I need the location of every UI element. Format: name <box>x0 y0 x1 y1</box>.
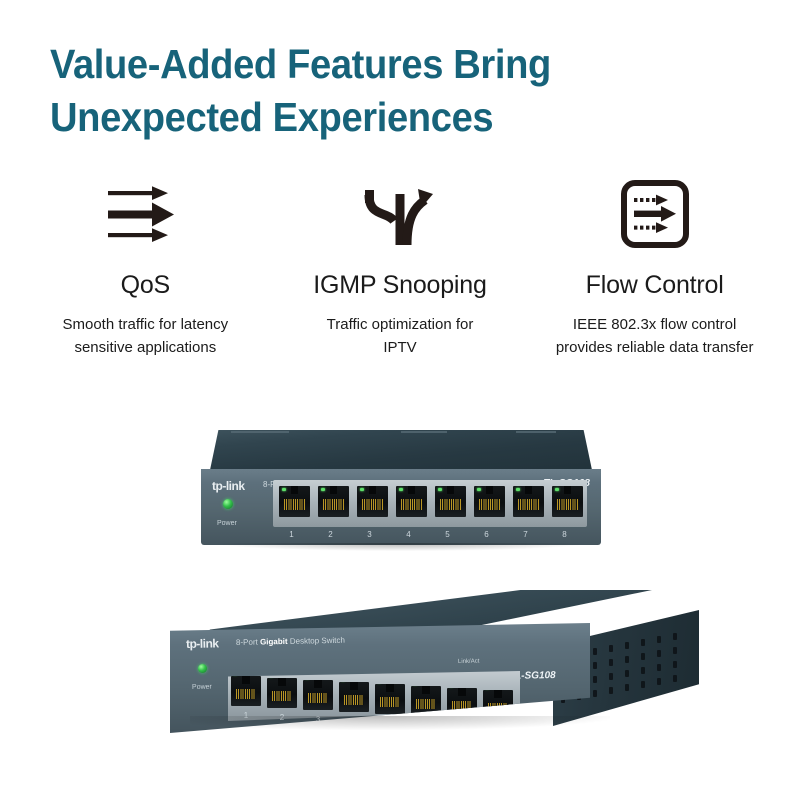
feature-title-flow-control: Flow Control <box>586 271 724 300</box>
product-image-front-view: tp-link 8-Port Gigabit Desktop Switch Li… <box>201 430 601 555</box>
rj45-port[interactable] <box>396 486 427 517</box>
feature-item-igmp-snooping: IGMP Snooping Traffic optimization for I… <box>273 175 528 360</box>
rj45-port[interactable] <box>231 676 261 706</box>
branching-arrow-icon <box>363 175 437 253</box>
power-led <box>223 499 233 509</box>
product-shadow <box>190 716 610 730</box>
feature-desc-flow-control: IEEE 802.3x flow control provides reliab… <box>530 313 780 360</box>
feature-desc-qos-line-2: sensitive applications <box>20 336 270 359</box>
tp-link-logo: tp-link <box>186 636 219 651</box>
rj45-port[interactable] <box>279 486 310 517</box>
feature-desc-igmp-line-2: IPTV <box>275 336 525 359</box>
chassis-top-seam <box>516 431 556 433</box>
rj45-port[interactable] <box>513 486 544 517</box>
feature-desc-igmp-line-1: Traffic optimization for <box>275 313 525 336</box>
rj45-port[interactable] <box>474 486 505 517</box>
feature-title-qos: QoS <box>121 271 170 300</box>
port-link-led <box>399 488 403 491</box>
product-shadow <box>217 543 585 551</box>
rj45-port[interactable] <box>339 682 369 712</box>
product-image-angled-view: tp-link 8-Port Gigabit Desktop Switch Li… <box>170 590 690 740</box>
three-arrows-icon <box>106 175 184 253</box>
port-link-led <box>516 488 520 491</box>
port-number: 6 <box>471 530 502 539</box>
page-title-line-1: Value-Added Features Bring <box>50 38 701 91</box>
feature-desc-qos: Smooth traffic for latency sensitive app… <box>20 313 270 360</box>
port-link-led <box>438 488 442 491</box>
port-link-led <box>321 488 325 491</box>
rj45-port[interactable] <box>435 486 466 517</box>
rj45-port[interactable] <box>552 486 583 517</box>
power-led <box>198 664 207 673</box>
rj45-port[interactable] <box>411 686 441 716</box>
rj45-port[interactable] <box>375 684 405 714</box>
port-link-led <box>477 488 481 491</box>
port-number: 7 <box>510 530 541 539</box>
link-act-label: Link/Act <box>458 659 479 665</box>
rj45-port[interactable] <box>447 688 477 718</box>
feature-desc-qos-line-1: Smooth traffic for latency <box>20 313 270 336</box>
feature-desc-flow-control-line-2: provides reliable data transfer <box>530 336 780 359</box>
front-panel-front-view: tp-link 8-Port Gigabit Desktop Switch Li… <box>201 469 601 545</box>
power-label: Power <box>217 520 237 527</box>
tp-link-logo: tp-link <box>212 479 245 493</box>
product-description: 8-Port Gigabit Desktop Switch <box>236 636 345 647</box>
port-number: 2 <box>315 530 346 539</box>
rj45-port[interactable] <box>267 678 297 708</box>
feature-item-flow-control: Flow Control IEEE 802.3x flow control pr… <box>527 175 782 360</box>
flow-control-box-icon <box>620 175 690 253</box>
feature-title-igmp-snooping: IGMP Snooping <box>313 271 486 300</box>
chassis-top-front-view <box>210 430 592 470</box>
port-link-led <box>555 488 559 491</box>
product-images: tp-link 8-Port Gigabit Desktop Switch Li… <box>0 400 800 800</box>
port-number: 1 <box>276 530 307 539</box>
rj45-port[interactable] <box>318 486 349 517</box>
port-number: 8 <box>549 530 580 539</box>
port-number: 5 <box>432 530 463 539</box>
page-title-line-2: Unexpected Experiences <box>50 91 701 144</box>
rj45-port[interactable] <box>303 680 333 710</box>
port-number: 3 <box>354 530 385 539</box>
rj45-port[interactable] <box>357 486 388 517</box>
feature-list: QoS Smooth traffic for latency sensitive… <box>18 175 782 360</box>
feature-desc-flow-control-line-1: IEEE 802.3x flow control <box>530 313 780 336</box>
feature-item-qos: QoS Smooth traffic for latency sensitive… <box>18 175 273 360</box>
feature-desc-igmp-snooping: Traffic optimization for IPTV <box>275 313 525 360</box>
port-link-led <box>360 488 364 491</box>
chassis-top-seam <box>231 431 289 433</box>
port-link-led <box>282 488 286 491</box>
port-strip-front-view <box>273 480 587 527</box>
port-number: 4 <box>393 530 424 539</box>
power-label: Power <box>192 684 212 691</box>
page-title: Value-Added Features Bring Unexpected Ex… <box>50 38 701 145</box>
chassis-top-seam <box>401 431 447 433</box>
